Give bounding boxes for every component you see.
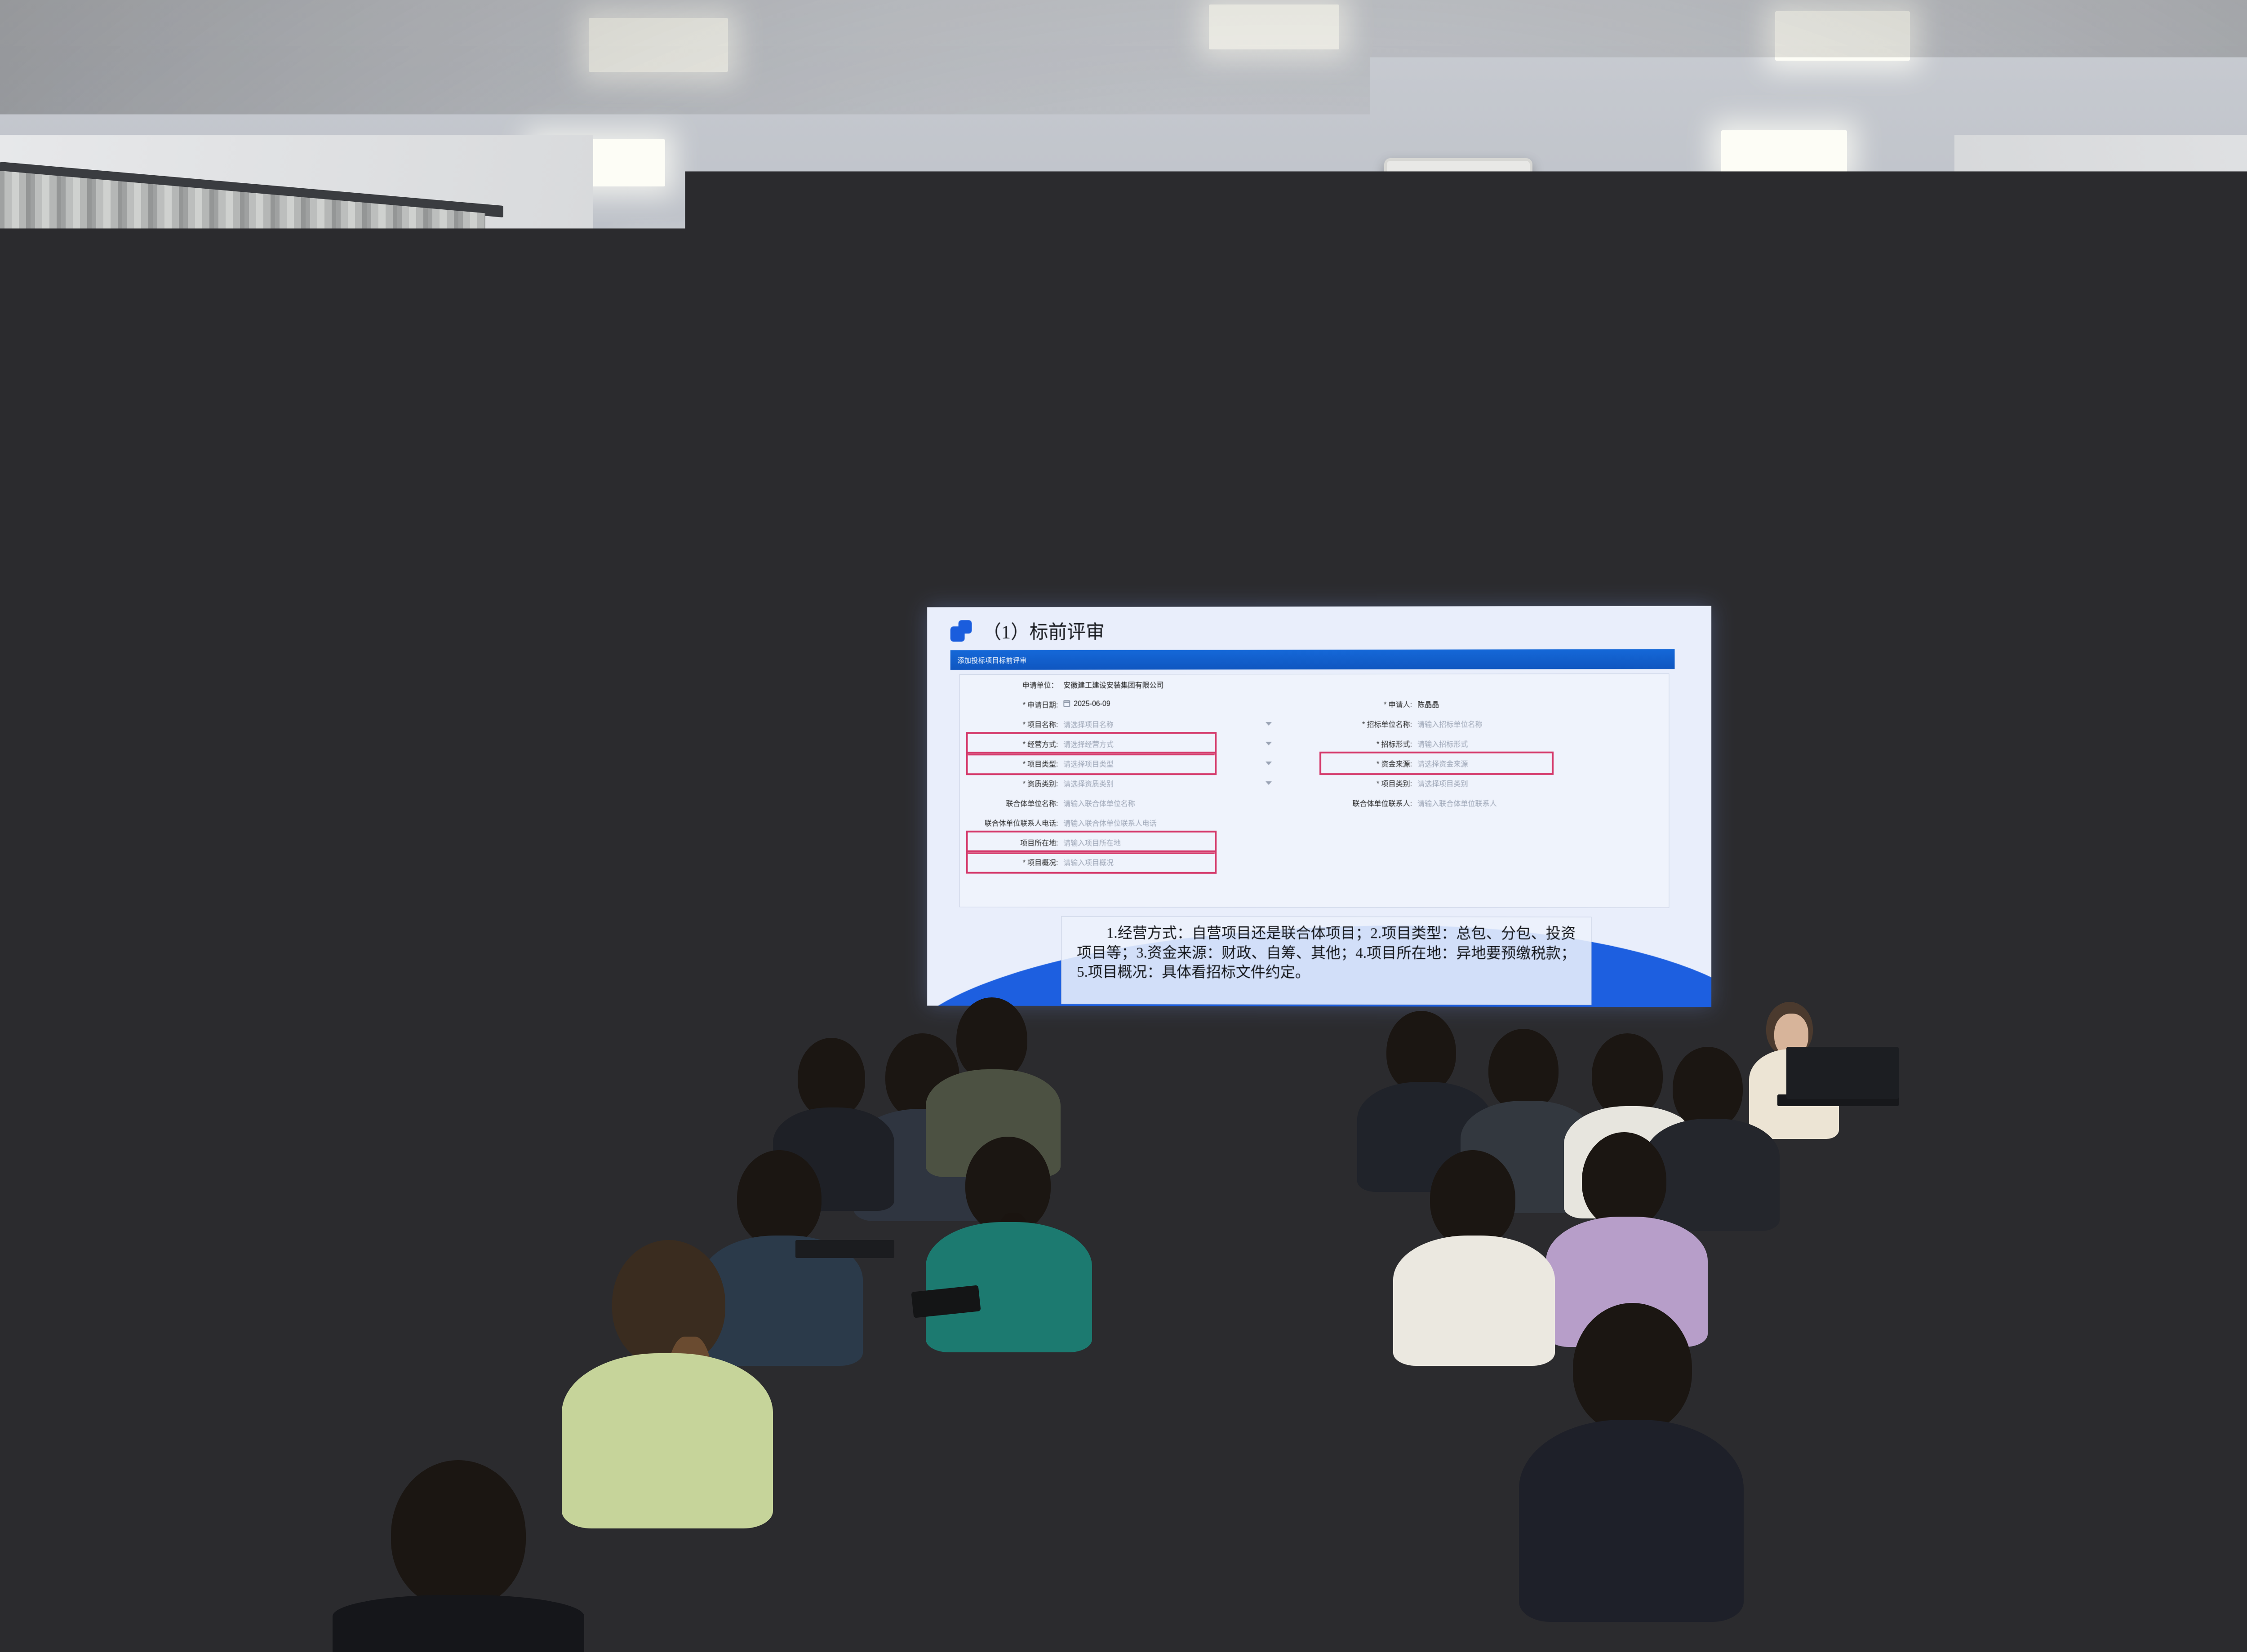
form-row: * 经营方式:请选择经营方式* 招标形式:请输入招标形式 xyxy=(960,733,1669,753)
slide-note-text: 1.经营方式：自营项目还是联合体项目；2.项目类型：总包、分包、投资项目等；3.… xyxy=(1077,924,1576,983)
calendar-icon xyxy=(1063,700,1070,707)
attendee-torso-anta-print xyxy=(2202,1433,2247,1652)
attendee-head xyxy=(2104,1141,2190,1239)
attendee-torso xyxy=(0,1604,198,1652)
desk-caster xyxy=(1401,1366,1415,1379)
field-label: 联合体单位联系人: xyxy=(1313,797,1417,808)
attendee-torso xyxy=(333,1595,584,1652)
field-placeholder[interactable]: 请输入招标形式 xyxy=(1417,738,1468,749)
form-row: 联合体单位名称:请输入联合体单位名称联合体单位联系人:请输入联合体单位联系人 xyxy=(960,793,1669,813)
field-value[interactable]: 陈晶晶 xyxy=(1417,699,1439,709)
field-label: * 项目类别: xyxy=(1313,778,1417,788)
sprinkler-icon xyxy=(1308,279,1315,290)
attendee xyxy=(1519,1303,1744,1617)
ceiling-light-panel xyxy=(1209,4,1339,49)
attendee-head xyxy=(40,1492,153,1617)
presenter-laptop-screen[interactable] xyxy=(1786,1047,1899,1099)
wall-reflection xyxy=(836,418,1798,607)
air-conditioner-unit xyxy=(1384,158,1532,277)
attendee xyxy=(980,1402,1222,1652)
attendee-head xyxy=(2113,1056,2185,1140)
attendee-head xyxy=(312,1150,396,1245)
form-row-applicant-unit: 申请单位： 安徽建工建设安装集团有限公司 xyxy=(960,674,1669,695)
form-field-left-项目类型: * 项目类型:请选择项目类型 xyxy=(960,753,1313,773)
slide-header: （1）标前评审 xyxy=(950,617,1105,644)
attendee-head xyxy=(956,997,1027,1081)
field-placeholder[interactable]: 请选择项目名称 xyxy=(1063,718,1114,729)
attendee xyxy=(333,1460,584,1652)
speaker-bracket xyxy=(555,620,568,674)
notebook xyxy=(795,1240,894,1258)
hair-bun xyxy=(1971,1024,2006,1051)
attendee xyxy=(562,1240,773,1528)
form-field-right-项目类别: * 项目类别:请选择项目类别 xyxy=(1313,773,1669,793)
form-row: * 项目类型:请选择项目类型* 资金来源:请选择资金来源 xyxy=(960,753,1669,774)
panel-header-bar: 添加投标项目标前评审 xyxy=(950,649,1675,670)
attendee-torso xyxy=(1887,1568,2157,1652)
wood-panel-column xyxy=(1798,337,1986,1092)
field-placeholder[interactable]: 请选择资质类别 xyxy=(1063,778,1114,788)
attendee-head xyxy=(1673,1047,1743,1129)
form-field-left-项目概况: * 项目概况:请输入项目概况 xyxy=(960,852,1313,872)
field-value[interactable]: 2025-06-09 xyxy=(1063,700,1110,708)
sprinkler-icon xyxy=(701,276,708,288)
ceiling-light-panel xyxy=(1681,252,1789,290)
field-label: * 资金来源: xyxy=(1313,758,1417,769)
field-label: * 招标单位名称: xyxy=(1313,718,1417,729)
attendee-head xyxy=(612,1240,725,1367)
field-placeholder[interactable]: 请输入项目概况 xyxy=(1063,857,1114,868)
slide-logo-icon xyxy=(950,620,972,642)
field-placeholder[interactable]: 请输入联合体单位名称 xyxy=(1063,797,1135,808)
ceiling-light-panel xyxy=(629,252,742,291)
form-row: 联合体单位联系人电话:请输入联合体单位联系人电话 xyxy=(960,813,1669,833)
attendee-head xyxy=(737,1150,822,1246)
attendee xyxy=(1303,1496,1546,1652)
projection-screen[interactable]: （1）标前评审 添加投标项目标前评审 申请单位： 安徽建工建设安装集团有限公司 … xyxy=(927,606,1711,1007)
field-placeholder[interactable]: 请选择项目类别 xyxy=(1417,778,1468,788)
attendee-head xyxy=(1582,1132,1666,1228)
form-field-right-申请人: * 申请人:陈晶晶 xyxy=(1313,694,1669,714)
chevron-down-icon[interactable] xyxy=(1266,762,1272,765)
curtain-left xyxy=(0,171,485,1215)
attendee-head xyxy=(1488,1029,1559,1112)
attendee-torso xyxy=(1928,1110,2063,1222)
ceiling-light-panel xyxy=(589,18,728,72)
attendee xyxy=(1928,1038,2063,1218)
attendee-head xyxy=(391,1460,526,1608)
tripod-center-post xyxy=(743,943,752,1015)
handout-line xyxy=(14,1312,113,1335)
attendee-head xyxy=(1953,1429,2092,1581)
applicant-unit-label: 申请单位： xyxy=(960,679,1064,690)
ceiling-light-panel xyxy=(1721,130,1847,175)
field-placeholder[interactable]: 请输入联合体单位联系人 xyxy=(1417,797,1497,808)
field-label: 项目所在地: xyxy=(960,837,1064,848)
attendee xyxy=(926,1137,1092,1348)
attendee-head xyxy=(1573,1303,1692,1433)
field-placeholder[interactable]: 请选择项目类型 xyxy=(1063,758,1114,769)
field-label: * 项目类型: xyxy=(960,758,1064,769)
form-row: * 项目概况:请输入项目概况 xyxy=(960,852,1669,873)
microphone-icon xyxy=(758,930,808,945)
field-label: 联合体单位名称: xyxy=(960,797,1064,808)
slide-title: （1）标前评审 xyxy=(982,617,1105,644)
field-placeholder[interactable]: 请选择经营方式 xyxy=(1063,738,1114,749)
form-card: 申请单位： 安徽建工建设安装集团有限公司 * 申请日期:2025-06-09* … xyxy=(959,673,1670,908)
field-placeholder[interactable]: 请选择资金来源 xyxy=(1417,758,1468,769)
jbl-logo-icon xyxy=(616,612,634,622)
field-label: * 项目名称: xyxy=(960,718,1064,729)
desk-leg xyxy=(467,1305,473,1408)
form-cell-empty xyxy=(1313,852,1669,872)
form-field-right-联合体单位联系人: 联合体单位联系人:请输入联合体单位联系人 xyxy=(1313,793,1669,813)
camera-body xyxy=(735,890,761,916)
panel-header-label: 添加投标项目标前评审 xyxy=(958,655,1027,664)
desk-caster xyxy=(462,1404,475,1417)
form-field-right-资金来源: * 资金来源:请选择资金来源 xyxy=(1313,753,1669,773)
chevron-down-icon[interactable] xyxy=(1266,781,1272,785)
attendee-head xyxy=(278,1060,353,1148)
glasses-icon xyxy=(331,1109,356,1112)
training-room-photo: （1）标前评审 添加投标项目标前评审 申请单位： 安徽建工建设安装集团有限公司 … xyxy=(0,0,2247,1652)
form-field-left-联合体单位名称: 联合体单位名称:请输入联合体单位名称 xyxy=(960,793,1313,813)
attendee-head xyxy=(90,1159,175,1256)
hair-bun xyxy=(567,1021,603,1049)
field-label: * 资质类别: xyxy=(960,778,1064,788)
form-row: * 申请日期:2025-06-09* 申请人:陈晶晶 xyxy=(960,694,1669,714)
attendee xyxy=(2202,1312,2247,1652)
jbl-logo-icon xyxy=(1976,608,1994,618)
wood-panel-column xyxy=(1986,323,2085,1114)
form-row: * 项目名称:请选择项目名称* 招标单位名称:请输入招标单位名称 xyxy=(960,713,1669,734)
form-row: 项目所在地:请输入项目所在地 xyxy=(960,833,1669,853)
field-placeholder[interactable]: 请输入项目所在地 xyxy=(1063,837,1120,848)
form-field-left-资质类别: * 资质类别:请选择资质类别 xyxy=(960,773,1313,793)
field-label: 联合体单位联系人电话: xyxy=(960,817,1064,828)
field-label: * 项目概况: xyxy=(960,857,1064,868)
field-label: * 招标形式: xyxy=(1313,738,1417,749)
field-label: * 经营方式: xyxy=(960,738,1064,749)
attendee-head xyxy=(1038,1402,1168,1546)
form-cell-empty xyxy=(1313,833,1669,852)
attendee xyxy=(0,1492,198,1652)
form-field-left-联合体单位联系人电话: 联合体单位联系人电话:请输入联合体单位联系人电话 xyxy=(960,813,1313,833)
handout-line xyxy=(11,1303,99,1324)
form-field-left-项目名称: * 项目名称:请选择项目名称 xyxy=(960,714,1313,734)
attendee xyxy=(1887,1429,2157,1652)
attendee-torso xyxy=(1519,1420,1744,1622)
form-cell-empty xyxy=(1313,813,1669,833)
jbl-speaker-left xyxy=(584,517,665,642)
attendee-head xyxy=(798,1038,865,1118)
attendee-head xyxy=(647,1047,724,1150)
jbl-speaker-right xyxy=(1946,512,2025,638)
chevron-down-icon[interactable] xyxy=(1266,742,1272,745)
form-field-left-申请日期: * 申请日期:2025-06-09 xyxy=(960,694,1313,714)
form-row: * 资质类别:请选择资质类别* 项目类别:请选择项目类别 xyxy=(960,773,1669,793)
attendee-torso xyxy=(1303,1622,1546,1652)
camera-head xyxy=(736,920,759,945)
attendee-head xyxy=(1362,1496,1492,1635)
form-field-left-经营方式: * 经营方式:请选择经营方式 xyxy=(960,734,1313,753)
form-field-right-招标单位名称: * 招标单位名称:请输入招标单位名称 xyxy=(1313,713,1669,734)
attendee-torso-green xyxy=(562,1353,773,1528)
chevron-down-icon[interactable] xyxy=(1266,722,1272,726)
form-field-left-项目所在地: 项目所在地:请输入项目所在地 xyxy=(960,833,1313,852)
field-label: * 申请日期: xyxy=(960,699,1064,710)
field-label: * 申请人: xyxy=(1313,699,1417,709)
attendee-head xyxy=(1430,1150,1515,1247)
screen-track xyxy=(836,596,1798,606)
ceiling-light-panel xyxy=(1775,11,1910,61)
slide-note-box: 1.经营方式：自营项目还是联合体项目；2.项目类型：总包、分包、投资项目等；3.… xyxy=(1061,916,1591,1005)
field-placeholder[interactable]: 请输入招标单位名称 xyxy=(1417,718,1482,729)
notebook xyxy=(85,1383,220,1404)
form-rows: * 申请日期:2025-06-09* 申请人:陈晶晶* 项目名称:请选择项目名称… xyxy=(960,694,1669,872)
attendee-torso xyxy=(980,1532,1222,1652)
form-field-right-招标形式: * 招标形式:请输入招标形式 xyxy=(1313,733,1669,753)
applicant-unit-value: 安徽建工建设安装集团有限公司 xyxy=(1063,679,1163,690)
attendee-head xyxy=(1386,1011,1456,1093)
field-placeholder[interactable]: 请输入联合体单位联系人电话 xyxy=(1063,817,1156,828)
attendee-torso-teal xyxy=(926,1222,1092,1352)
glasses-icon xyxy=(1955,1082,1978,1085)
